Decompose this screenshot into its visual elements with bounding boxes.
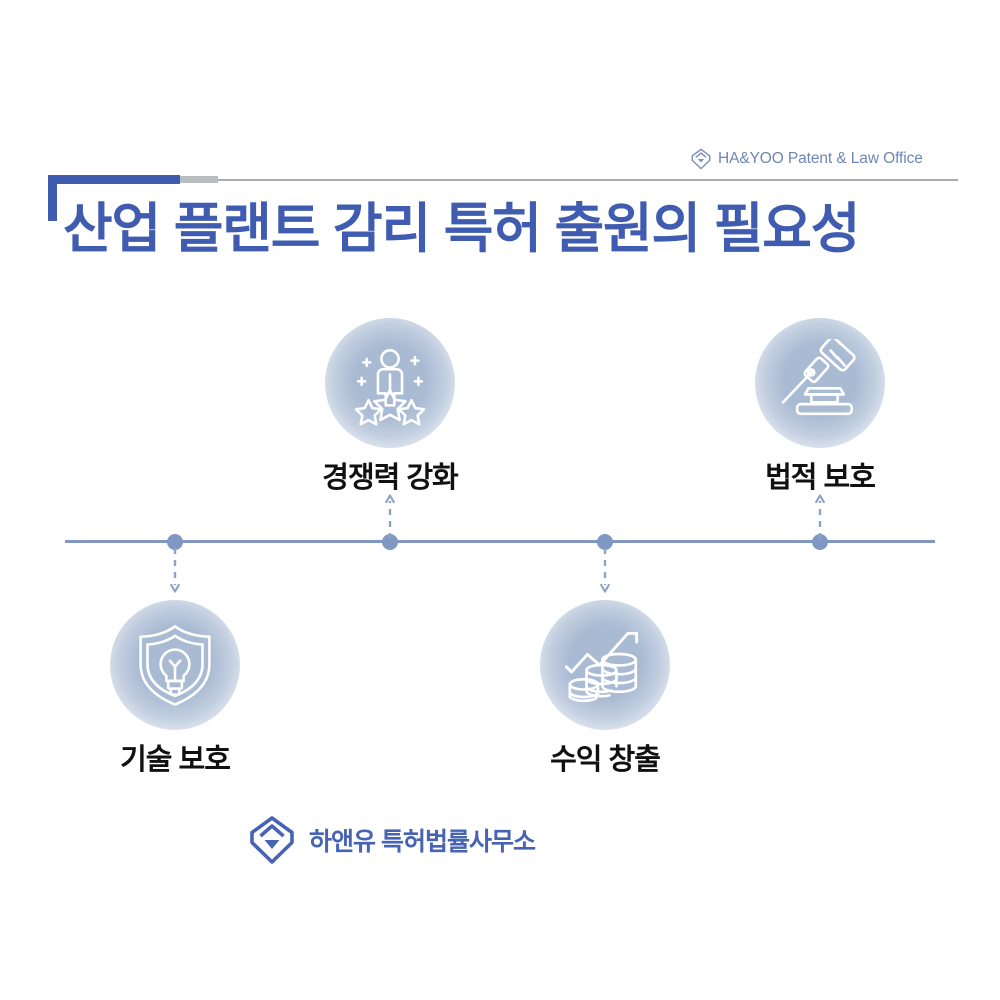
page-title: 산업 플랜트 감리 특허 출원의 필요성 <box>63 198 859 260</box>
connector-down-revenue-generation <box>598 548 612 594</box>
haandyoo-diamond-logo-icon <box>248 816 296 864</box>
node-label-competitiveness: 경쟁력 강화 <box>240 454 540 496</box>
icon-circle-technology-protection <box>110 600 240 730</box>
brand-name-text: HA&YOO Patent & Law Office <box>718 150 923 168</box>
bracket-gray-segment <box>180 176 218 183</box>
node-competitiveness[interactable]: 경쟁력 강화 <box>240 318 540 496</box>
node-label-technology-protection: 기술 보호 <box>25 736 325 778</box>
slide-canvas: HA&YOO Patent & Law Office 산업 플랜트 감리 특허 … <box>0 0 1000 1000</box>
node-revenue-generation[interactable]: 수익 창출 <box>455 600 755 778</box>
connector-up-competitiveness <box>383 493 397 539</box>
icon-circle-revenue-generation <box>540 600 670 730</box>
timeline-axis <box>65 540 935 543</box>
footer-brand: 하앤유 특허법률사무소 <box>248 816 535 864</box>
icon-circle-legal-protection <box>755 318 885 448</box>
connector-down-technology-protection <box>168 548 182 594</box>
person-with-stars-icon <box>347 340 433 426</box>
icon-circle-competitiveness <box>325 318 455 448</box>
coins-growth-arrow-icon <box>561 621 649 709</box>
haandyoo-diamond-logo-icon <box>690 148 712 170</box>
node-label-revenue-generation: 수익 창출 <box>455 736 755 778</box>
node-label-legal-protection: 법적 보호 <box>670 454 970 496</box>
bracket-thin-line <box>218 179 958 181</box>
gavel-icon <box>776 339 864 427</box>
header-brand: HA&YOO Patent & Law Office <box>690 148 923 170</box>
node-technology-protection[interactable]: 기술 보호 <box>25 600 325 778</box>
connector-up-legal-protection <box>813 493 827 539</box>
footer-company-name: 하앤유 특허법률사무소 <box>309 822 535 858</box>
node-legal-protection[interactable]: 법적 보호 <box>670 318 970 496</box>
bracket-blue-segment <box>48 175 180 184</box>
shield-lightbulb-icon <box>132 622 218 708</box>
